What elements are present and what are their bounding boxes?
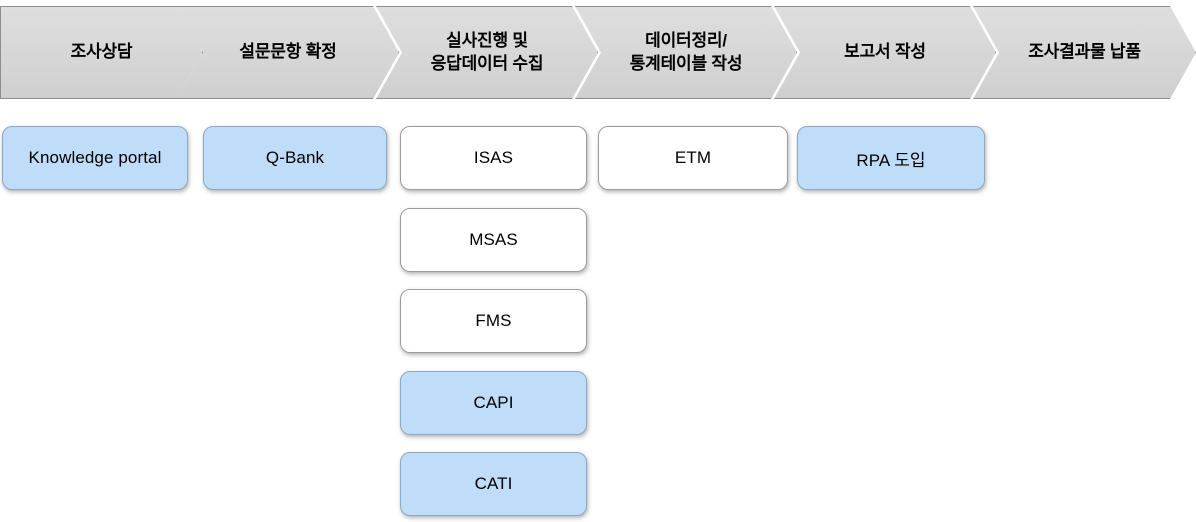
solution-box: FMS [400,289,587,353]
process-stage-label: 보고서 작성 [838,41,932,63]
process-stage-5: 보고서 작성 [774,6,996,99]
solution-box-label: CAPI [469,393,517,413]
solution-box: ISAS [400,126,587,190]
solution-box-label: Q-Bank [262,148,328,168]
process-stage-label: 데이터정리/ 통계테이블 작성 [624,30,749,75]
process-stage-6: 조사결과물 납품 [973,6,1196,99]
process-stage-label: 조사결과물 납품 [1022,41,1147,63]
solution-box-label: ISAS [470,148,517,168]
process-stage-1: 조사상담 [0,6,203,99]
solution-box: MSAS [400,208,587,272]
solution-box-label: Knowledge portal [25,148,166,168]
solution-box: CATI [400,452,587,516]
solution-box: CAPI [400,371,587,435]
process-stage-label: 실사진행 및 응답데이터 수집 [425,30,550,75]
process-stage-2: 설문문항 확정 [177,6,399,99]
solution-box-label: RPA 도입 [852,146,929,171]
solution-box: Q-Bank [203,126,387,190]
process-stage-label: 설문문항 확정 [233,41,342,63]
solution-box-label: CATI [471,474,517,494]
solution-box-label: MSAS [465,230,522,250]
process-stage-label: 조사상담 [65,41,139,63]
process-stage-4: 데이터정리/ 통계테이블 작성 [575,6,797,99]
solution-box: RPA 도입 [797,126,985,190]
solution-box-label: ETM [671,148,715,168]
process-stage-band: 조사상담설문문항 확정실사진행 및 응답데이터 수집데이터정리/ 통계테이블 작… [0,0,1196,104]
solution-box-label: FMS [471,311,515,331]
process-stage-3: 실사진행 및 응답데이터 수집 [376,6,598,99]
solution-box: ETM [598,126,788,190]
process-flow-diagram: 조사상담설문문항 확정실사진행 및 응답데이터 수집데이터정리/ 통계테이블 작… [0,0,1196,522]
solution-box: Knowledge portal [2,126,188,190]
